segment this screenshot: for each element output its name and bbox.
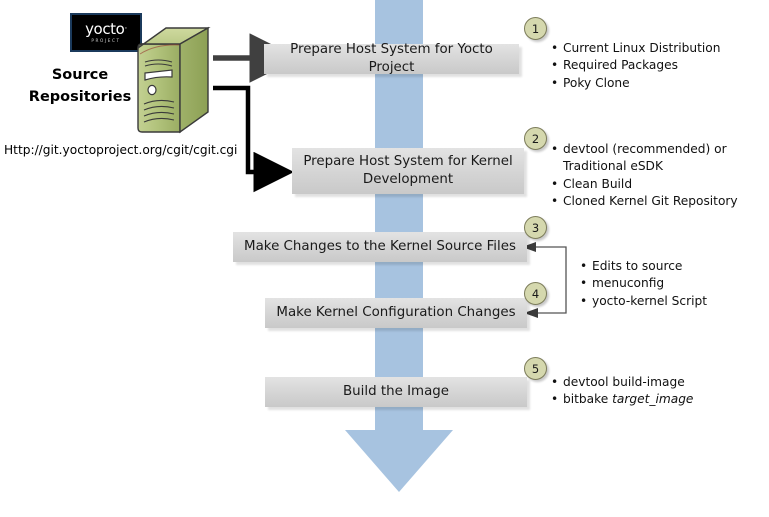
steps-3-4-shared-bullets: Edits to source menuconfig yocto-kernel … bbox=[580, 258, 707, 310]
list-item: Poky Clone bbox=[551, 75, 720, 92]
step-number-5: 5 bbox=[524, 357, 547, 380]
server-tower-icon bbox=[132, 24, 216, 136]
logo-subtitle: PROJECT bbox=[91, 39, 120, 43]
logo-word-text: yocto bbox=[85, 20, 124, 38]
step-number-3: 3 bbox=[524, 216, 547, 239]
flow-arrowhead-icon bbox=[345, 430, 453, 492]
step-number-2: 2 bbox=[524, 127, 547, 150]
step-2-bullets: devtool (recommended) or Traditional eSD… bbox=[551, 141, 738, 210]
logo-wordmark: yocto· bbox=[85, 22, 127, 37]
list-item: Required Packages bbox=[551, 57, 720, 74]
list-item: Edits to source bbox=[580, 258, 707, 275]
list-item-continuation: Traditional eSDK bbox=[551, 158, 738, 175]
step-number-1: 1 bbox=[524, 17, 547, 40]
list-item: Cloned Kernel Git Repository bbox=[551, 193, 738, 210]
step-box-3[interactable]: Make Changes to the Kernel Source Files bbox=[233, 232, 527, 262]
step-box-2[interactable]: Prepare Host System for Kernel Developme… bbox=[292, 148, 524, 194]
list-item-text: bitbake bbox=[563, 392, 612, 406]
step-box-4[interactable]: Make Kernel Configuration Changes bbox=[265, 298, 527, 328]
list-item: devtool (recommended) or bbox=[551, 141, 738, 158]
source-label-line1: Source bbox=[20, 64, 140, 86]
step-5-bullets: devtool build-image bitbake target_image bbox=[551, 374, 693, 409]
step-box-5[interactable]: Build the Image bbox=[265, 377, 527, 407]
list-item: yocto-kernel Script bbox=[580, 293, 707, 310]
arrow-server-to-step2 bbox=[213, 88, 258, 172]
step-box-1[interactable]: Prepare Host System for Yocto Project bbox=[264, 44, 519, 74]
source-repositories-label: Source Repositories bbox=[20, 64, 140, 109]
list-item: bitbake target_image bbox=[551, 391, 693, 408]
step-box-2-line2: Development bbox=[363, 171, 453, 189]
source-label-line2: Repositories bbox=[20, 86, 140, 108]
list-item: menuconfig bbox=[580, 275, 707, 292]
list-item: Clean Build bbox=[551, 176, 738, 193]
logo-dot: · bbox=[124, 24, 126, 34]
list-item: Current Linux Distribution bbox=[551, 40, 720, 57]
kernel-development-flow-diagram: yocto· PROJECT Source Repositories Http:… bbox=[0, 0, 769, 517]
repository-url-label: Http://git.yoctoproject.org/cgit/cgit.cg… bbox=[4, 143, 237, 157]
step-number-4: 4 bbox=[524, 282, 547, 305]
list-item-emphasis: target_image bbox=[612, 392, 693, 406]
step-1-bullets: Current Linux Distribution Required Pack… bbox=[551, 40, 720, 92]
list-item: devtool build-image bbox=[551, 374, 693, 391]
step-box-2-line1: Prepare Host System for Kernel bbox=[303, 153, 512, 171]
